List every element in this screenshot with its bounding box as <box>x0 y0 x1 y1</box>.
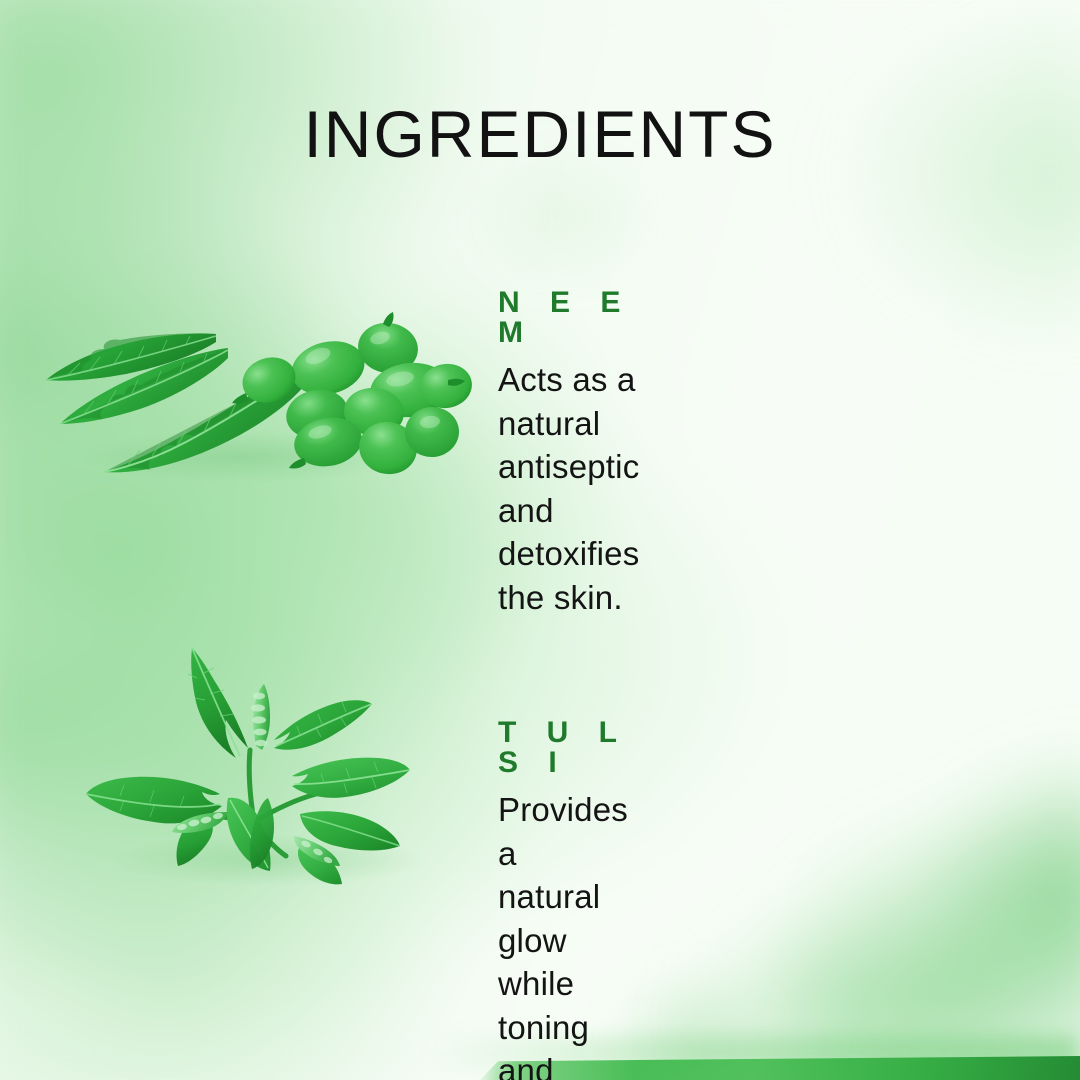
ingredients-poster: INGREDIENTS <box>0 0 1080 1080</box>
tulsi-flower-spike-center <box>251 684 270 750</box>
tulsi-leaf-top-left <box>188 648 248 758</box>
tulsi-leaf-right <box>292 758 410 798</box>
tulsi-text-block: T U L S I Provides a natural glow while … <box>498 718 628 1080</box>
ingredient-name-neem: N E E M <box>498 288 639 348</box>
neem-image <box>28 262 458 492</box>
tulsi-desc-line-2: toning and soothing the skin. <box>498 1006 628 1080</box>
ingredient-description-neem: Acts as a natural antiseptic and detoxif… <box>498 358 639 619</box>
tulsi-desc-line-1: Provides a natural glow while <box>498 788 628 1006</box>
tulsi-leaf-top-right <box>274 700 372 749</box>
neem-desc-line-1: Acts as a natural antiseptic <box>498 358 639 489</box>
page-title: INGREDIENTS <box>0 96 1080 172</box>
tulsi-illustration <box>78 622 448 892</box>
neem-text-block: N E E M Acts as a natural antiseptic and… <box>498 288 639 619</box>
ingredient-name-tulsi: T U L S I <box>498 718 628 778</box>
neem-desc-line-2: and detoxifies the skin. <box>498 489 639 620</box>
neem-illustration <box>28 262 458 492</box>
ingredient-description-tulsi: Provides a natural glow while toning and… <box>498 788 628 1080</box>
tulsi-image <box>78 622 448 892</box>
